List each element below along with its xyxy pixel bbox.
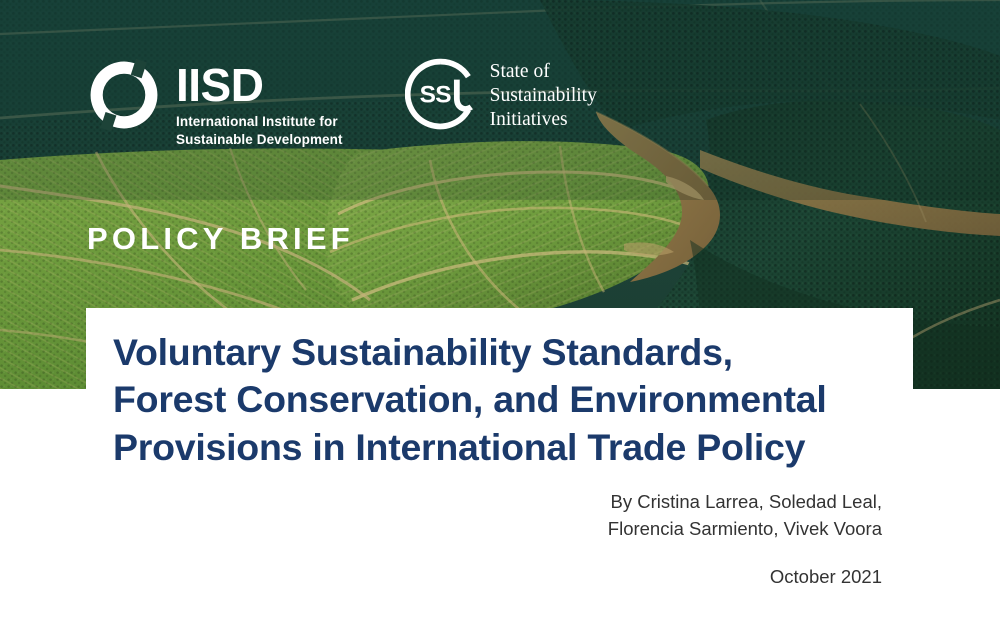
ssi-name: State of Sustainability Initiatives: [490, 55, 597, 131]
authors-line: By Cristina Larrea, Soledad Leal, Floren…: [322, 489, 882, 543]
ssi-circle-logo-icon: SS: [405, 58, 477, 130]
iisd-logo: IISD International Institute for Sustain…: [86, 55, 343, 148]
page-title: Voluntary Sustainability Standards, Fore…: [113, 329, 903, 471]
iisd-tagline: International Institute for Sustainable …: [176, 113, 343, 148]
publication-date: October 2021: [322, 564, 882, 591]
iisd-ring-logo-icon: [86, 57, 162, 133]
title-panel: Voluntary Sustainability Standards, Fore…: [86, 308, 913, 498]
iisd-wordmark: IISD: [176, 64, 343, 106]
cover-page: IISD International Institute for Sustain…: [0, 0, 1000, 620]
document-kicker: POLICY BRIEF: [87, 221, 354, 257]
logo-band: IISD International Institute for Sustain…: [86, 55, 597, 148]
iisd-text: IISD International Institute for Sustain…: [176, 55, 343, 148]
byline-block: By Cristina Larrea, Soledad Leal, Floren…: [322, 489, 882, 590]
svg-text:SS: SS: [419, 82, 451, 109]
ssi-logo: SS State of Sustainability Initiatives: [405, 55, 597, 131]
